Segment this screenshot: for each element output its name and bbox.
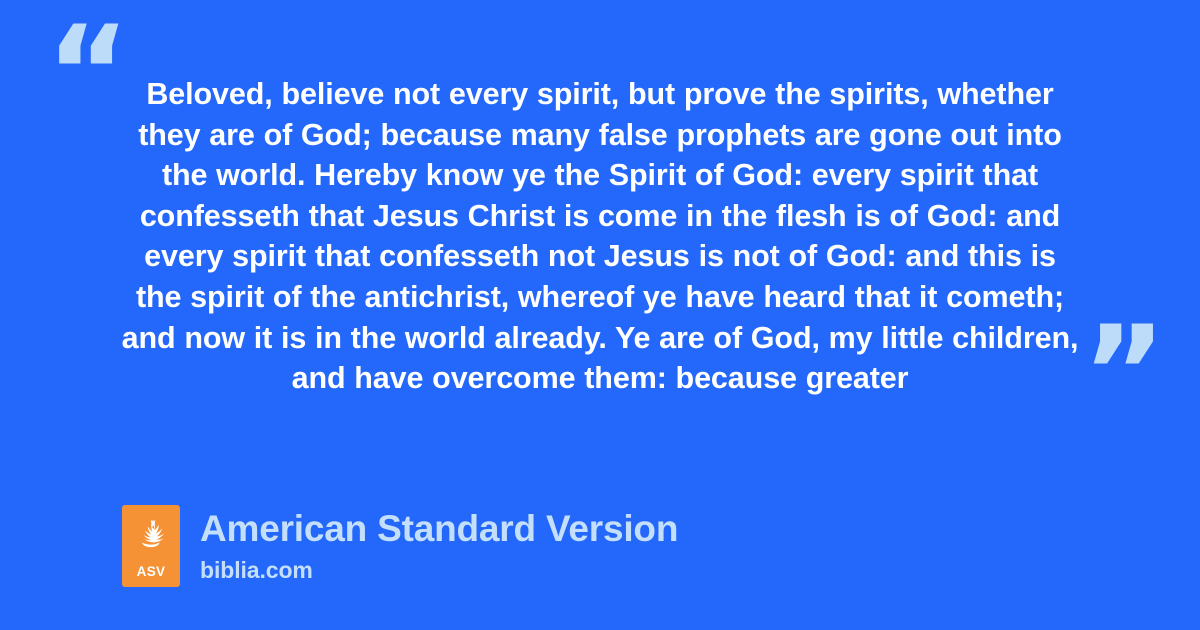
opening-quote-icon: “ bbox=[46, 10, 130, 138]
bible-version-logo: ASV bbox=[122, 505, 180, 587]
version-abbreviation-label: ASV bbox=[122, 565, 180, 579]
bible-version-title: American Standard Version bbox=[200, 507, 678, 551]
site-url-label: biblia.com bbox=[200, 557, 678, 583]
closing-quote-icon: ” bbox=[1082, 310, 1166, 438]
scripture-quote-text: Beloved, believe not every spirit, but p… bbox=[120, 74, 1080, 399]
footer-text-block: American Standard Version biblia.com bbox=[200, 505, 678, 583]
quote-card: “ Beloved, believe not every spirit, but… bbox=[0, 0, 1200, 630]
attribution-footer: ASV American Standard Version biblia.com bbox=[122, 505, 678, 587]
torch-icon bbox=[132, 515, 170, 553]
